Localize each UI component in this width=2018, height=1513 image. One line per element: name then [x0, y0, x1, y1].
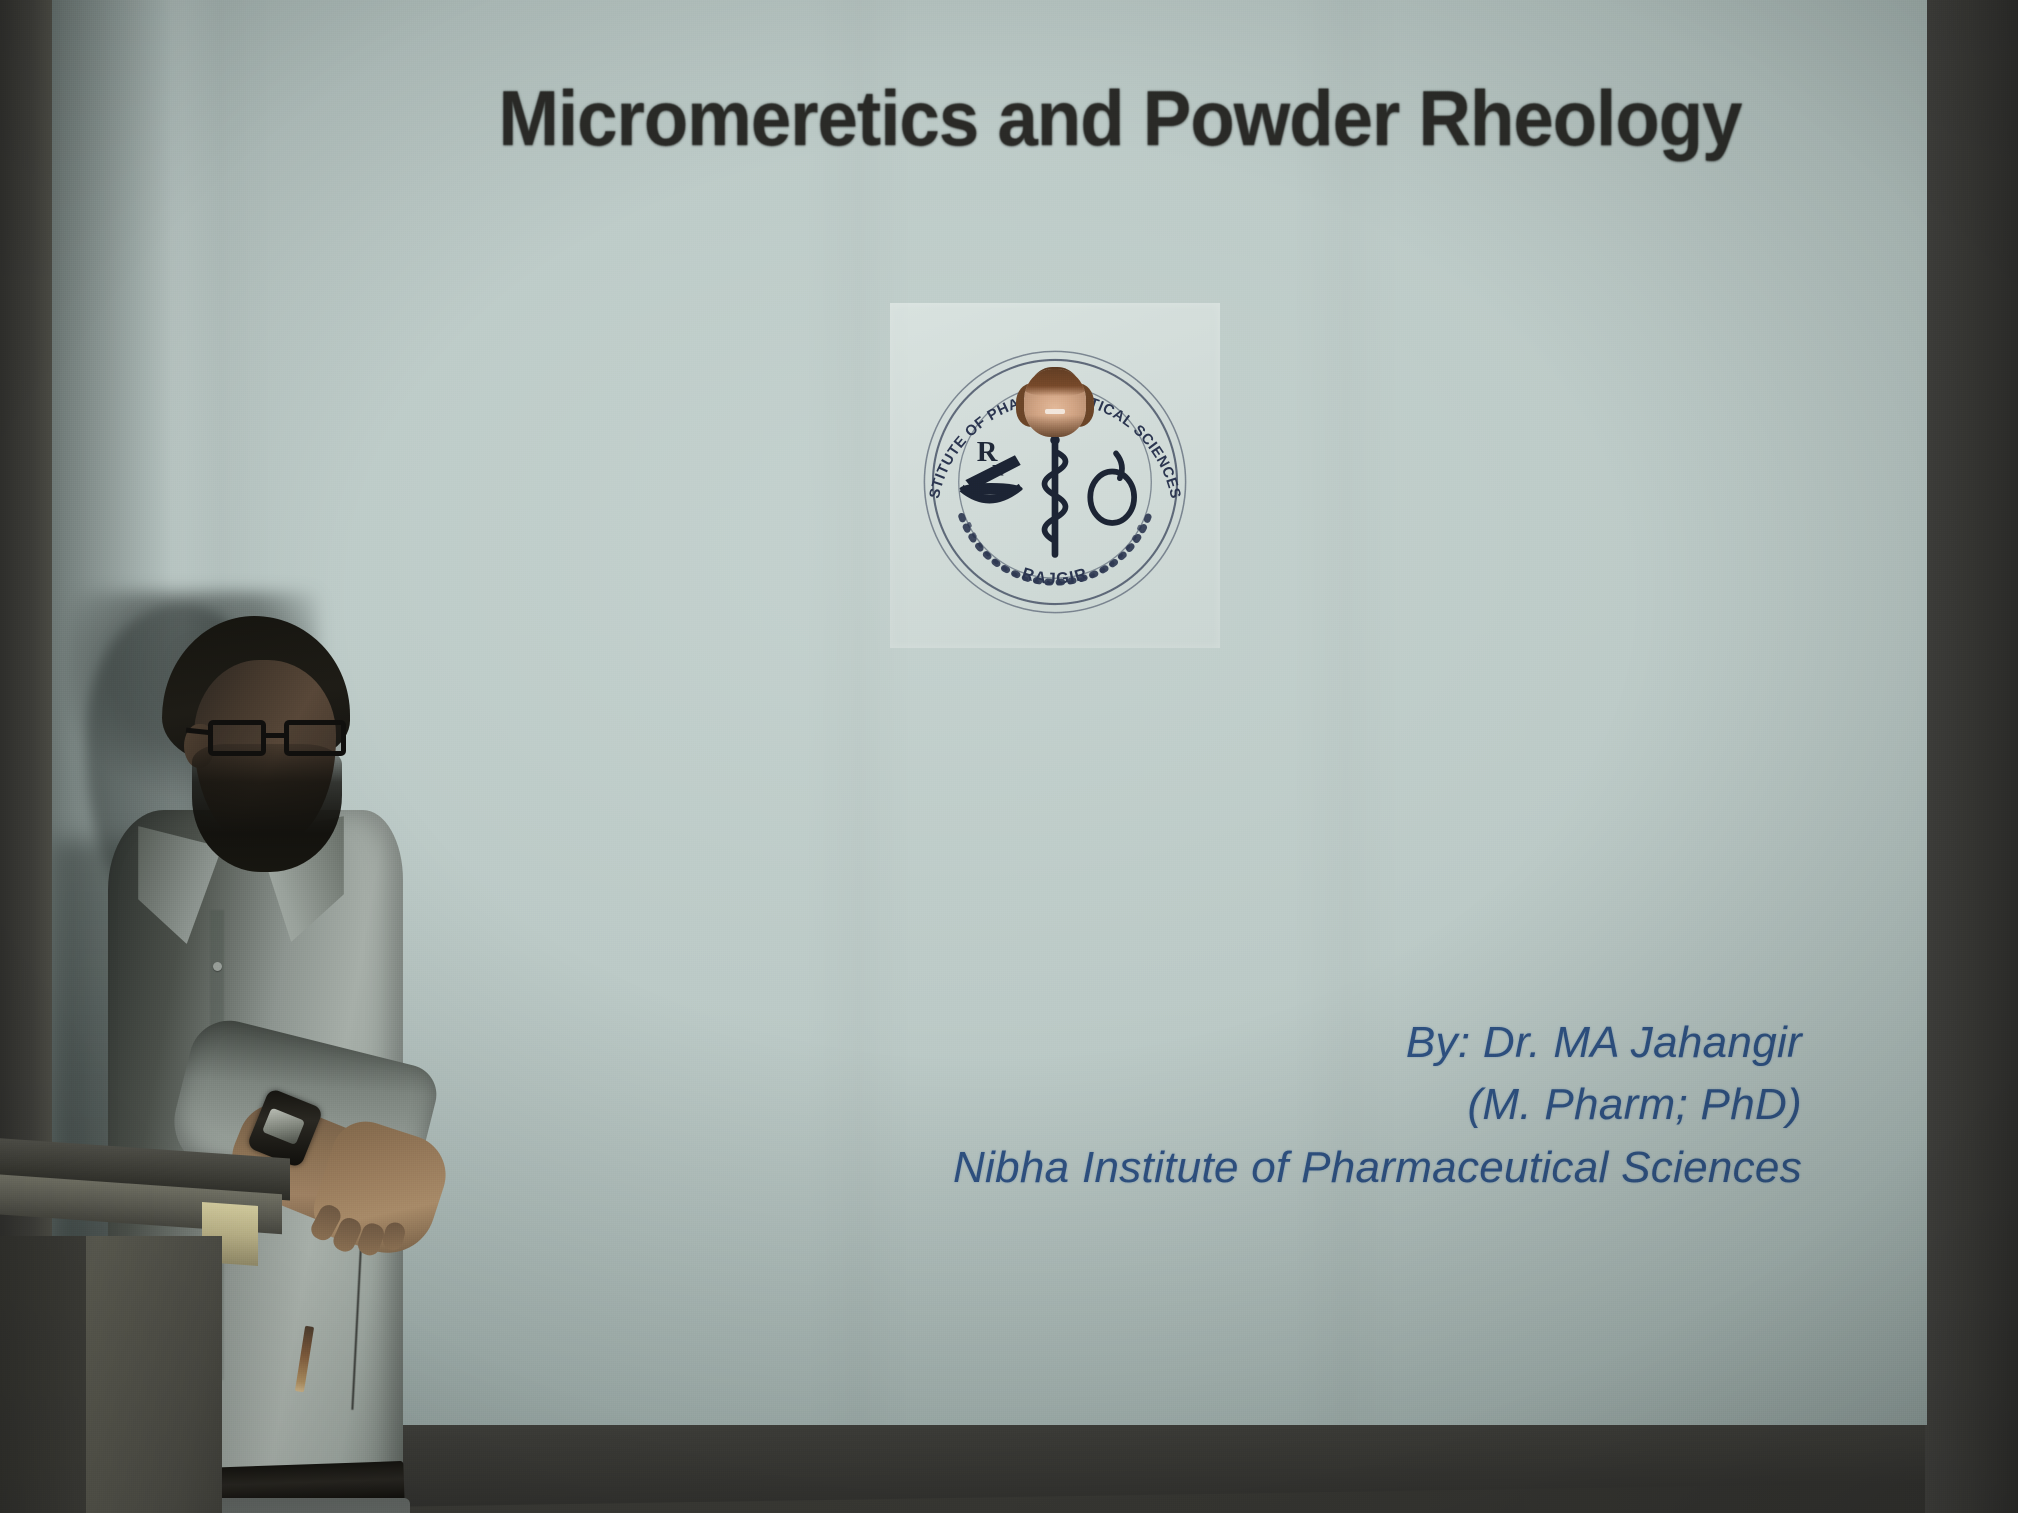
byline-institution: Nibha Institute of Pharmaceutical Scienc… [953, 1137, 1802, 1199]
presenter-head-shadow [68, 592, 318, 922]
slide-title: Micromeretics and Powder Rheology [423, 78, 1818, 160]
byline-author: By: Dr. MA Jahangir [953, 1012, 1802, 1074]
wall-right-of-screen [1925, 0, 2018, 1513]
institute-seal-icon: NIBHA INSTITUTE OF PHARMACEUTICAL SCIENC… [912, 339, 1198, 625]
byline-qualifications: (M. Pharm; PhD) [953, 1074, 1802, 1136]
presenter-head-shadow-core [86, 604, 276, 904]
lectern [0, 1148, 310, 1513]
lecture-photo: Micromeretics and Powder Rheology NIBHA … [0, 0, 2018, 1513]
institute-logo-card: NIBHA INSTITUTE OF PHARMACEUTICAL SCIENC… [890, 303, 1220, 648]
screen-vignette [52, 0, 1927, 1425]
slide-byline: By: Dr. MA Jahangir (M. Pharm; PhD) Nibh… [953, 1012, 1802, 1199]
projection-screen: Micromeretics and Powder Rheology NIBHA … [52, 0, 1927, 1425]
seal-portrait-photo [1024, 369, 1086, 437]
lectern-shadow-side [0, 1236, 86, 1513]
seal-portrait-mouth [1045, 409, 1065, 414]
